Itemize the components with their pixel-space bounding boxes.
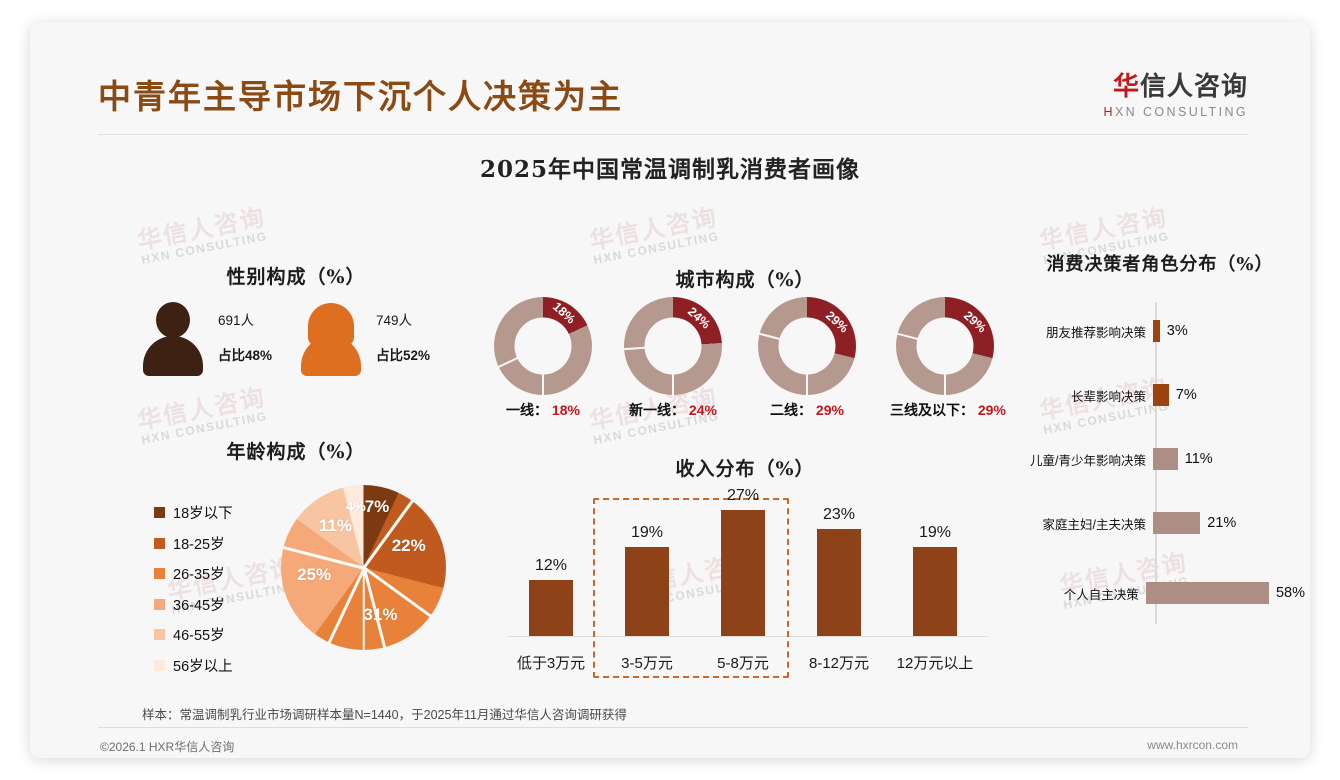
donut-hole: [779, 318, 836, 375]
donut-caption: 三线及以下： 29%: [890, 400, 1000, 420]
company-logo: 华信人咨询 HXN CONSULTING: [1104, 66, 1249, 119]
income-title: 收入分布（%）: [485, 454, 1005, 481]
donut-caption-label: 二线：: [770, 402, 812, 418]
decision-role-label: 儿童/青少年影响决策: [1015, 450, 1153, 469]
donut-caption-value: 24%: [685, 402, 717, 418]
decision-role-label: 朋友推荐影响决策: [1015, 322, 1153, 341]
logo-en-first: H: [1104, 105, 1115, 119]
donut-hole: [645, 318, 702, 375]
age-composition-section: 年龄构成（%） 18岁以下18-25岁26-35岁36-45岁46-55岁56岁…: [126, 437, 466, 682]
income-bar: [721, 510, 765, 636]
city-donut-ring: 29%: [896, 297, 994, 395]
donut-caption-label: 新一线：: [629, 402, 685, 418]
income-bar-category: 低于3万元: [503, 652, 599, 673]
income-bar-category: 3-5万元: [599, 652, 695, 673]
age-legend-item[interactable]: 56岁以上: [154, 652, 233, 679]
age-legend-label: 26-35岁: [173, 563, 225, 584]
donut-caption: 新一线： 24%: [618, 400, 728, 420]
logo-cn-rest: 信人咨询: [1140, 72, 1248, 102]
city-donut-ring: 18%: [494, 297, 592, 395]
city-donut-ring: 24%: [624, 297, 722, 395]
pie-slice-label: 4%: [346, 498, 366, 514]
income-bar-value: 23%: [791, 506, 887, 524]
website-link[interactable]: www.hxrcon.com: [1147, 738, 1238, 752]
donut-caption: 二线： 29%: [752, 400, 862, 420]
decision-role-bar: [1153, 512, 1200, 534]
logo-chinese: 华信人咨询: [1104, 66, 1249, 103]
logo-en-rest: XN CONSULTING: [1115, 105, 1248, 119]
income-bar-column[interactable]: 27%: [695, 487, 791, 636]
legend-swatch-icon: [154, 538, 165, 549]
city-donut: 29%三线及以下： 29%: [890, 297, 1000, 420]
chart-subtitle: 2025年中国常温调制乳消费者画像: [30, 150, 1310, 184]
decision-role-label: 长辈影响决策: [1015, 386, 1153, 405]
city-donut-ring: 29%: [758, 297, 856, 395]
city-donut: 24%新一线： 24%: [618, 297, 728, 420]
decision-role-section: 消费决策者角色分布（%） 朋友推荐影响决策3%长辈影响决策7%儿童/青少年影响决…: [1015, 250, 1305, 630]
page-title: 中青年主导市场下沉个人决策为主: [98, 70, 623, 118]
age-pie-chart: 7%22%31%25%11%4%: [281, 485, 446, 650]
age-legend-label: 18-25岁: [173, 533, 225, 554]
header-divider: [98, 134, 1248, 135]
age-legend-label: 46-55岁: [173, 624, 225, 645]
income-bar-column[interactable]: 23%: [791, 506, 887, 636]
donut-caption-value: 29%: [812, 402, 844, 418]
watermark-en: HXN CONSULTING: [592, 230, 722, 267]
donut-caption-value: 18%: [548, 402, 580, 418]
decision-role-label: 家庭主妇/主夫决策: [1015, 514, 1153, 533]
logo-english: HXN CONSULTING: [1104, 105, 1249, 119]
decision-role-value: 21%: [1207, 515, 1236, 531]
decision-role-row[interactable]: 长辈影响决策7%: [1015, 382, 1305, 408]
decision-role-value: 11%: [1185, 451, 1213, 467]
female-avatar-icon: [298, 302, 364, 376]
decision-role-row[interactable]: 朋友推荐影响决策3%: [1015, 318, 1305, 344]
decision-role-value: 3%: [1167, 323, 1188, 339]
male-count: 691人: [218, 309, 254, 329]
gender-title: 性别构成（%）: [126, 262, 466, 289]
donut-caption-label: 三线及以下：: [890, 402, 974, 418]
female-count: 749人: [376, 309, 412, 329]
pie-slice-label: 11%: [319, 516, 352, 536]
income-bar: [625, 547, 669, 636]
logo-cn-first: 华: [1113, 72, 1140, 102]
watermark: 华信人咨询 HXN CONSULTING: [588, 205, 723, 267]
gender-composition-section: 性别构成（%） 691人 占比48% 749人 占比52%: [126, 262, 466, 392]
legend-swatch-icon: [154, 599, 165, 610]
city-donut: 29%二线： 29%: [752, 297, 862, 420]
copyright-text: ©2026.1 HXR华信人咨询: [100, 738, 234, 755]
income-bar: [817, 529, 861, 636]
legend-swatch-icon: [154, 507, 165, 518]
age-legend: 18岁以下18-25岁26-35岁36-45岁46-55岁56岁以上: [154, 499, 233, 682]
city-composition-section: 城市构成（%） 18%一线： 18%24%新一线： 24%29%二线： 29%2…: [480, 265, 1010, 405]
income-bar-value: 27%: [695, 487, 791, 505]
city-title: 城市构成（%）: [480, 265, 1010, 292]
income-bar-column[interactable]: 12%: [503, 557, 599, 636]
donut-hole: [515, 318, 572, 375]
legend-swatch-icon: [154, 629, 165, 640]
income-bar-category: 12万元以上: [887, 652, 983, 673]
decision-role-title: 消费决策者角色分布（%）: [1015, 250, 1305, 276]
decision-role-label: 个人自主决策: [1015, 584, 1146, 603]
pie-slice-divider: [327, 567, 365, 643]
income-bar-category: 8-12万元: [791, 652, 887, 673]
income-bar-column[interactable]: 19%: [887, 524, 983, 636]
decision-role-bar: [1153, 448, 1178, 470]
decision-role-row[interactable]: 个人自主决策58%: [1015, 580, 1305, 606]
decision-role-row[interactable]: 儿童/青少年影响决策11%: [1015, 446, 1305, 472]
male-avatar-icon: [140, 302, 206, 376]
age-legend-item[interactable]: 36-45岁: [154, 591, 233, 618]
watermark-cn: 华信人咨询: [588, 205, 720, 255]
income-bar-value: 19%: [599, 524, 695, 542]
decision-role-bar: [1153, 320, 1160, 342]
donut-caption-value: 29%: [974, 402, 1006, 418]
income-bar-column[interactable]: 19%: [599, 524, 695, 636]
watermark-cn: 华信人咨询: [1038, 205, 1170, 255]
city-donut: 18%一线： 18%: [488, 297, 598, 420]
slide-card: 华信人咨询 HXN CONSULTING 华信人咨询 HXN CONSULTIN…: [30, 22, 1310, 758]
age-legend-label: 36-45岁: [173, 594, 225, 615]
watermark-cn: 华信人咨询: [136, 385, 268, 435]
income-bar-category: 5-8万元: [695, 652, 791, 673]
pie-slice-label: 22%: [392, 536, 426, 556]
income-distribution-section: 收入分布（%） 12%低于3万元19%3-5万元27%5-8万元23%8-12万…: [485, 454, 1005, 679]
income-bar-value: 19%: [887, 524, 983, 542]
age-legend-item[interactable]: 46-55岁: [154, 621, 233, 648]
donut-caption: 一线： 18%: [488, 400, 598, 420]
female-share: 占比52%: [376, 344, 430, 364]
age-legend-item[interactable]: 18岁以下: [154, 499, 233, 526]
watermark: 华信人咨询 HXN CONSULTING: [136, 205, 271, 267]
age-legend-label: 18岁以下: [173, 502, 233, 523]
income-bar-value: 12%: [503, 557, 599, 575]
legend-swatch-icon: [154, 568, 165, 579]
age-title: 年龄构成（%）: [126, 437, 466, 464]
donut-caption-label: 一线：: [506, 402, 548, 418]
age-legend-item[interactable]: 18-25岁: [154, 530, 233, 557]
decision-role-value: 7%: [1176, 387, 1197, 403]
age-legend-label: 56岁以上: [173, 655, 233, 676]
age-legend-item[interactable]: 26-35岁: [154, 560, 233, 587]
decision-role-row[interactable]: 家庭主妇/主夫决策21%: [1015, 510, 1305, 536]
pie-slice-label: 25%: [297, 565, 331, 585]
pie-slice-label: 7%: [365, 497, 390, 517]
watermark-cn: 华信人咨询: [136, 205, 268, 255]
donut-hole: [917, 318, 974, 375]
decision-role-bar: [1153, 384, 1169, 406]
footer-divider: [98, 727, 1248, 728]
male-share: 占比48%: [218, 344, 272, 364]
decision-role-bar: [1146, 582, 1269, 604]
income-bar: [913, 547, 957, 636]
pie-slice-label: 31%: [363, 605, 397, 625]
income-bar: [529, 580, 573, 636]
decision-role-value: 58%: [1276, 585, 1305, 601]
legend-swatch-icon: [154, 660, 165, 671]
sample-note: 样本：常温调制乳行业市场调研样本量N=1440，于2025年11月通过华信人咨询…: [142, 704, 627, 723]
